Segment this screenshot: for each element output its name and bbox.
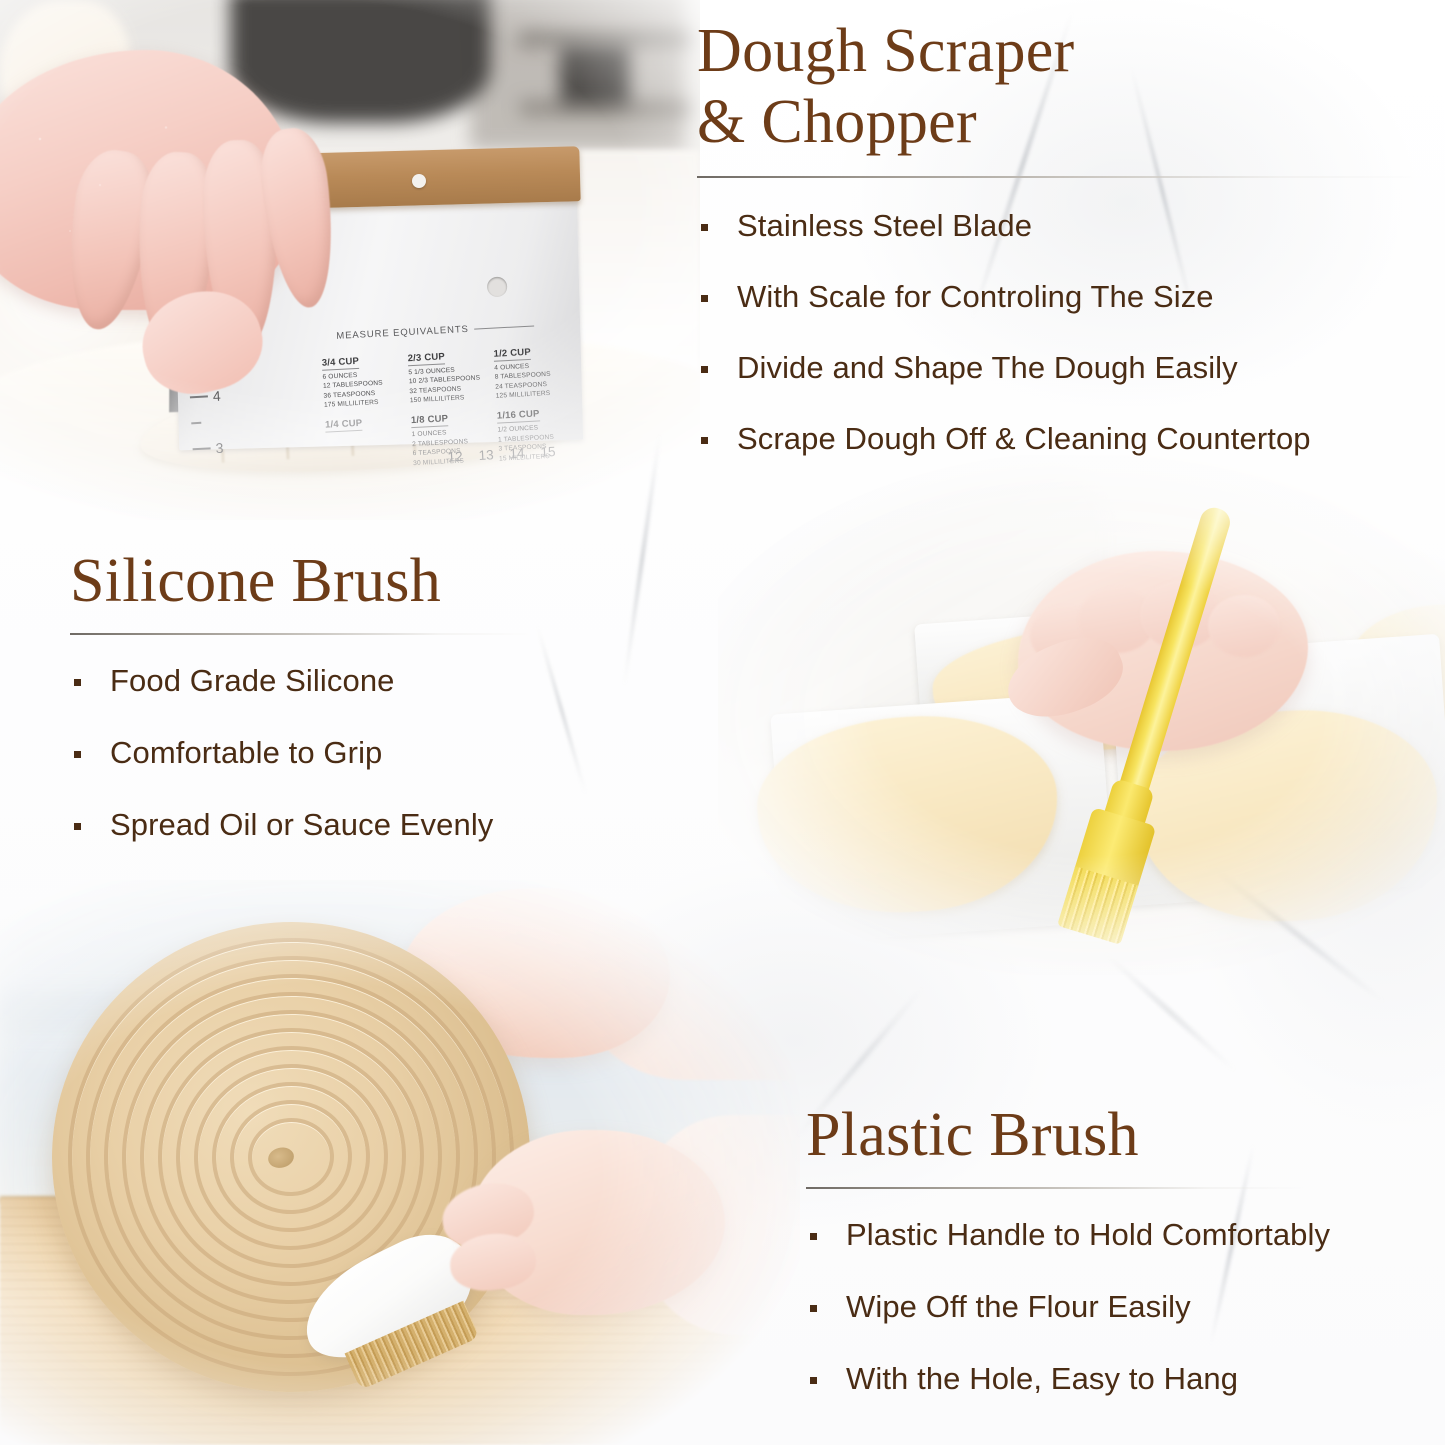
feature-item: With Scale for Controling The Size bbox=[697, 279, 1437, 315]
measure-equivalents-label: MEASURE EQUIVALENTS bbox=[336, 324, 469, 342]
conversion-lines: 5 1/3 OUNCES10 2/3 TABLESPOONS32 TEASPOO… bbox=[408, 364, 488, 405]
conversion-cell: 1/4 CUP bbox=[325, 411, 404, 433]
scraper-wooden-handle bbox=[285, 146, 580, 209]
feature-item: Comfortable to Grip bbox=[70, 735, 670, 771]
photo-banneton-basket bbox=[0, 880, 800, 1445]
section-dough-scraper: Dough Scraper & Chopper Stainless Steel … bbox=[697, 16, 1437, 492]
conversion-cell: 1/2 CUP 4 OUNCES8 TABLESPOONS24 TEASPOON… bbox=[493, 340, 574, 401]
section-title-dough-scraper: Dough Scraper & Chopper bbox=[697, 16, 1437, 158]
feature-item: Spread Oil or Sauce Evenly bbox=[70, 807, 670, 843]
feature-item: Food Grade Silicone bbox=[70, 663, 670, 699]
gloved-hand-silicone bbox=[1018, 515, 1338, 775]
feature-item: Plastic Handle to Hold Comfortably bbox=[806, 1217, 1445, 1253]
scraper-rivet bbox=[412, 174, 426, 188]
feature-item: With the Hole, Easy to Hang bbox=[806, 1361, 1445, 1397]
conversion-lines: 4 OUNCES8 TABLESPOONS24 TEASPOONS125 MIL… bbox=[494, 360, 574, 401]
conversion-lines: 6 OUNCES12 TABLESPOONS36 TEASPOONS175 MI… bbox=[322, 369, 402, 410]
title-divider bbox=[806, 1187, 1306, 1189]
section-plastic-brush: Plastic Brush Plastic Handle to Hold Com… bbox=[806, 1100, 1445, 1433]
conversion-cell: 2/3 CUP 5 1/3 OUNCES10 2/3 TABLESPOONS32… bbox=[407, 344, 488, 405]
photo-dough-scraper: MEASURE EQUIVALENTS 3/4 CUP 6 OUNCES12 T… bbox=[0, 0, 700, 520]
photo-silicone-brush bbox=[718, 455, 1445, 975]
section-title-silicone-brush: Silicone Brush bbox=[70, 546, 670, 617]
section-title-plastic-brush: Plastic Brush bbox=[806, 1100, 1445, 1171]
infographic-canvas: MEASURE EQUIVALENTS 3/4 CUP 6 OUNCES12 T… bbox=[0, 0, 1445, 1445]
feature-item: Scrape Dough Off & Cleaning Countertop bbox=[697, 421, 1437, 457]
hand-holding-brush bbox=[470, 1130, 725, 1315]
title-divider bbox=[697, 176, 1425, 178]
scraper-hang-hole bbox=[487, 277, 508, 298]
conversion-cell: 3/4 CUP 6 OUNCES12 TABLESPOONS36 TEASPOO… bbox=[321, 349, 402, 410]
title-divider bbox=[70, 633, 532, 635]
feature-item: Wipe Off the Flour Easily bbox=[806, 1289, 1445, 1325]
feature-list-dough-scraper: Stainless Steel Blade With Scale for Con… bbox=[697, 208, 1437, 457]
section-silicone-brush: Silicone Brush Food Grade Silicone Comfo… bbox=[70, 546, 670, 879]
feature-list-plastic-brush: Plastic Handle to Hold Comfortably Wipe … bbox=[806, 1217, 1445, 1397]
feature-list-silicone-brush: Food Grade Silicone Comfortable to Grip … bbox=[70, 663, 670, 843]
feature-item: Stainless Steel Blade bbox=[697, 208, 1437, 244]
feature-item: Divide and Shape The Dough Easily bbox=[697, 350, 1437, 386]
